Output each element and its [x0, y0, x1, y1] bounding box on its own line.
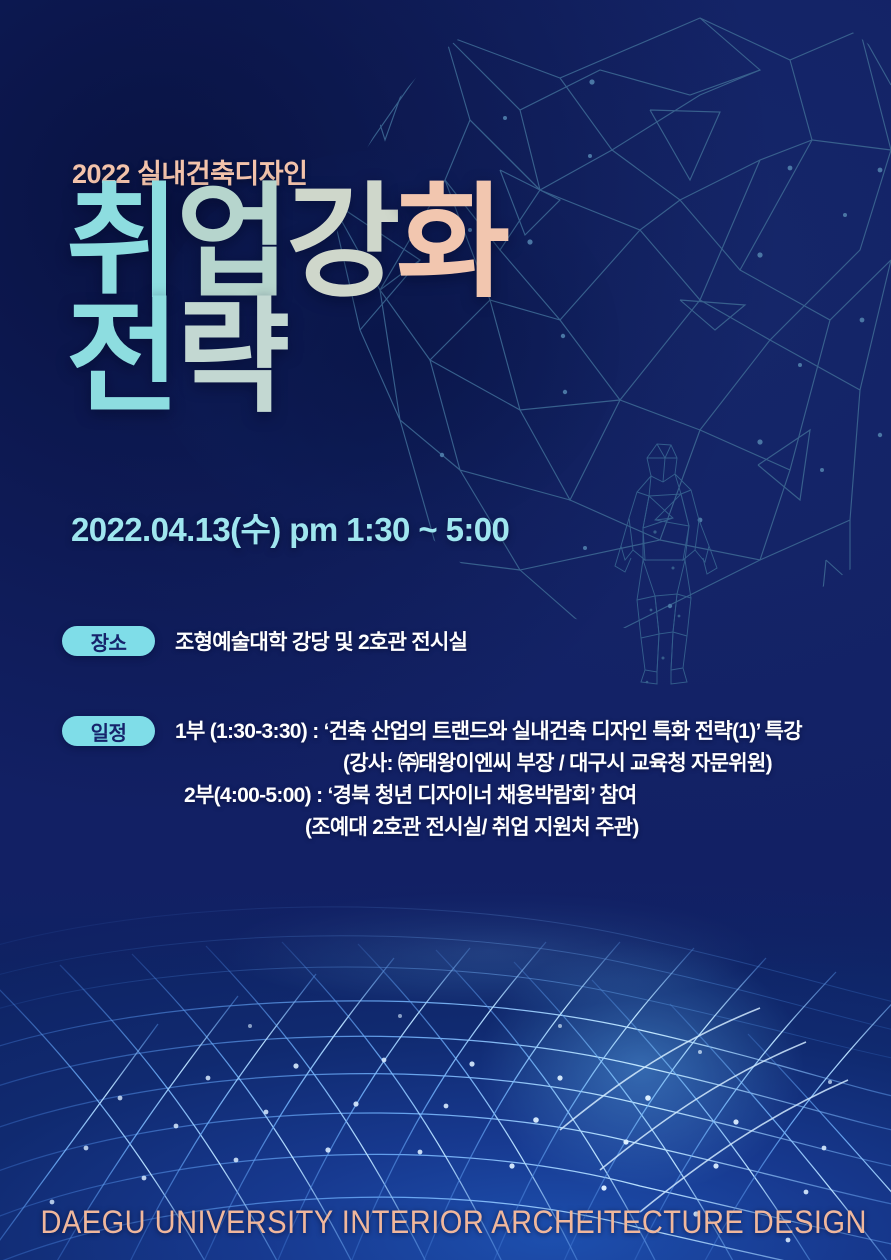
- poster-root: 2022 실내건축디자인 취업강화 전략 2022.04.13(수) pm 1:…: [0, 0, 891, 1260]
- venue-label-badge: 장소: [62, 626, 155, 656]
- schedule-lines: 1부 (1:30-3:30) : ‘건축 산업의 트랜드와 실내건축 디자인 특…: [175, 716, 802, 844]
- headline-char-6: 략: [176, 289, 286, 427]
- schedule-row: 일정 1부 (1:30-3:30) : ‘건축 산업의 트랜드와 실내건축 디자…: [62, 716, 802, 844]
- headline-char-3: 강: [286, 174, 396, 312]
- headline-char-5: 전: [66, 289, 176, 427]
- page-title: 취업강화 전략: [66, 186, 506, 417]
- poster-content: 2022 실내건축디자인 취업강화 전략 2022.04.13(수) pm 1:…: [0, 0, 891, 1260]
- venue-value: 조형예술대학 강당 및 2호관 전시실: [175, 627, 467, 659]
- schedule-line-2: (강사: ㈜태왕이엔씨 부장 / 대구시 교육청 자문위원): [175, 748, 802, 780]
- schedule-line-1: 1부 (1:30-3:30) : ‘건축 산업의 트랜드와 실내건축 디자인 특…: [175, 716, 802, 748]
- schedule-label-badge: 일정: [62, 716, 155, 746]
- headline-char-4: 화: [396, 174, 506, 312]
- venue-row: 장소 조형예술대학 강당 및 2호관 전시실: [62, 626, 467, 659]
- schedule-line-3: 2부(4:00-5:00) : ‘경북 청년 디자이너 채용박람회’ 참여: [175, 780, 802, 812]
- event-datetime: 2022.04.13(수) pm 1:30 ~ 5:00: [71, 503, 509, 551]
- schedule-line-4: (조예대 2호관 전시실/ 취업 지원처 주관): [175, 812, 802, 844]
- footer-text: DAEGU UNIVERSITY INTERIOR ARCHEITECTURE …: [40, 1205, 867, 1242]
